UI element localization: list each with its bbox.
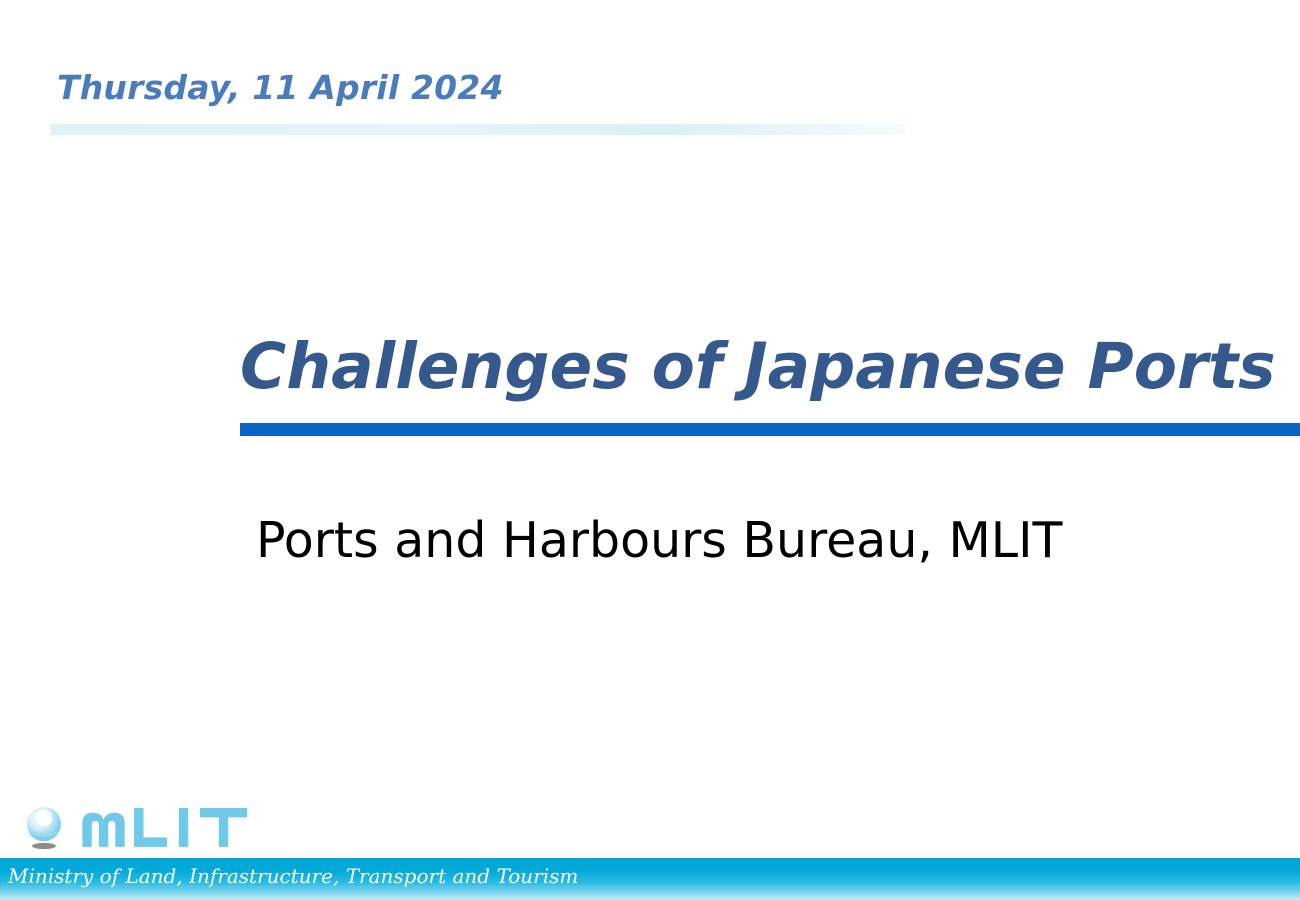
slide-title: Challenges of Japanese Ports	[240, 330, 1300, 404]
mlit-swirl-logo-icon	[22, 804, 70, 852]
footer-ministry-name: Ministry of Land, Infrastructure, Transp…	[8, 864, 578, 888]
header-divider	[50, 124, 905, 135]
title-block: Challenges of Japanese Ports	[240, 330, 1300, 404]
mlit-logo	[22, 802, 262, 854]
mlit-wordmark	[80, 808, 301, 848]
slide-date: Thursday, 11 April 2024	[57, 68, 504, 107]
slide-subtitle: Ports and Harbours Bureau, MLIT	[256, 512, 1063, 569]
title-underline-rule	[240, 423, 1300, 436]
presentation-slide: Thursday, 11 April 2024 Challenges of Ja…	[0, 0, 1300, 900]
